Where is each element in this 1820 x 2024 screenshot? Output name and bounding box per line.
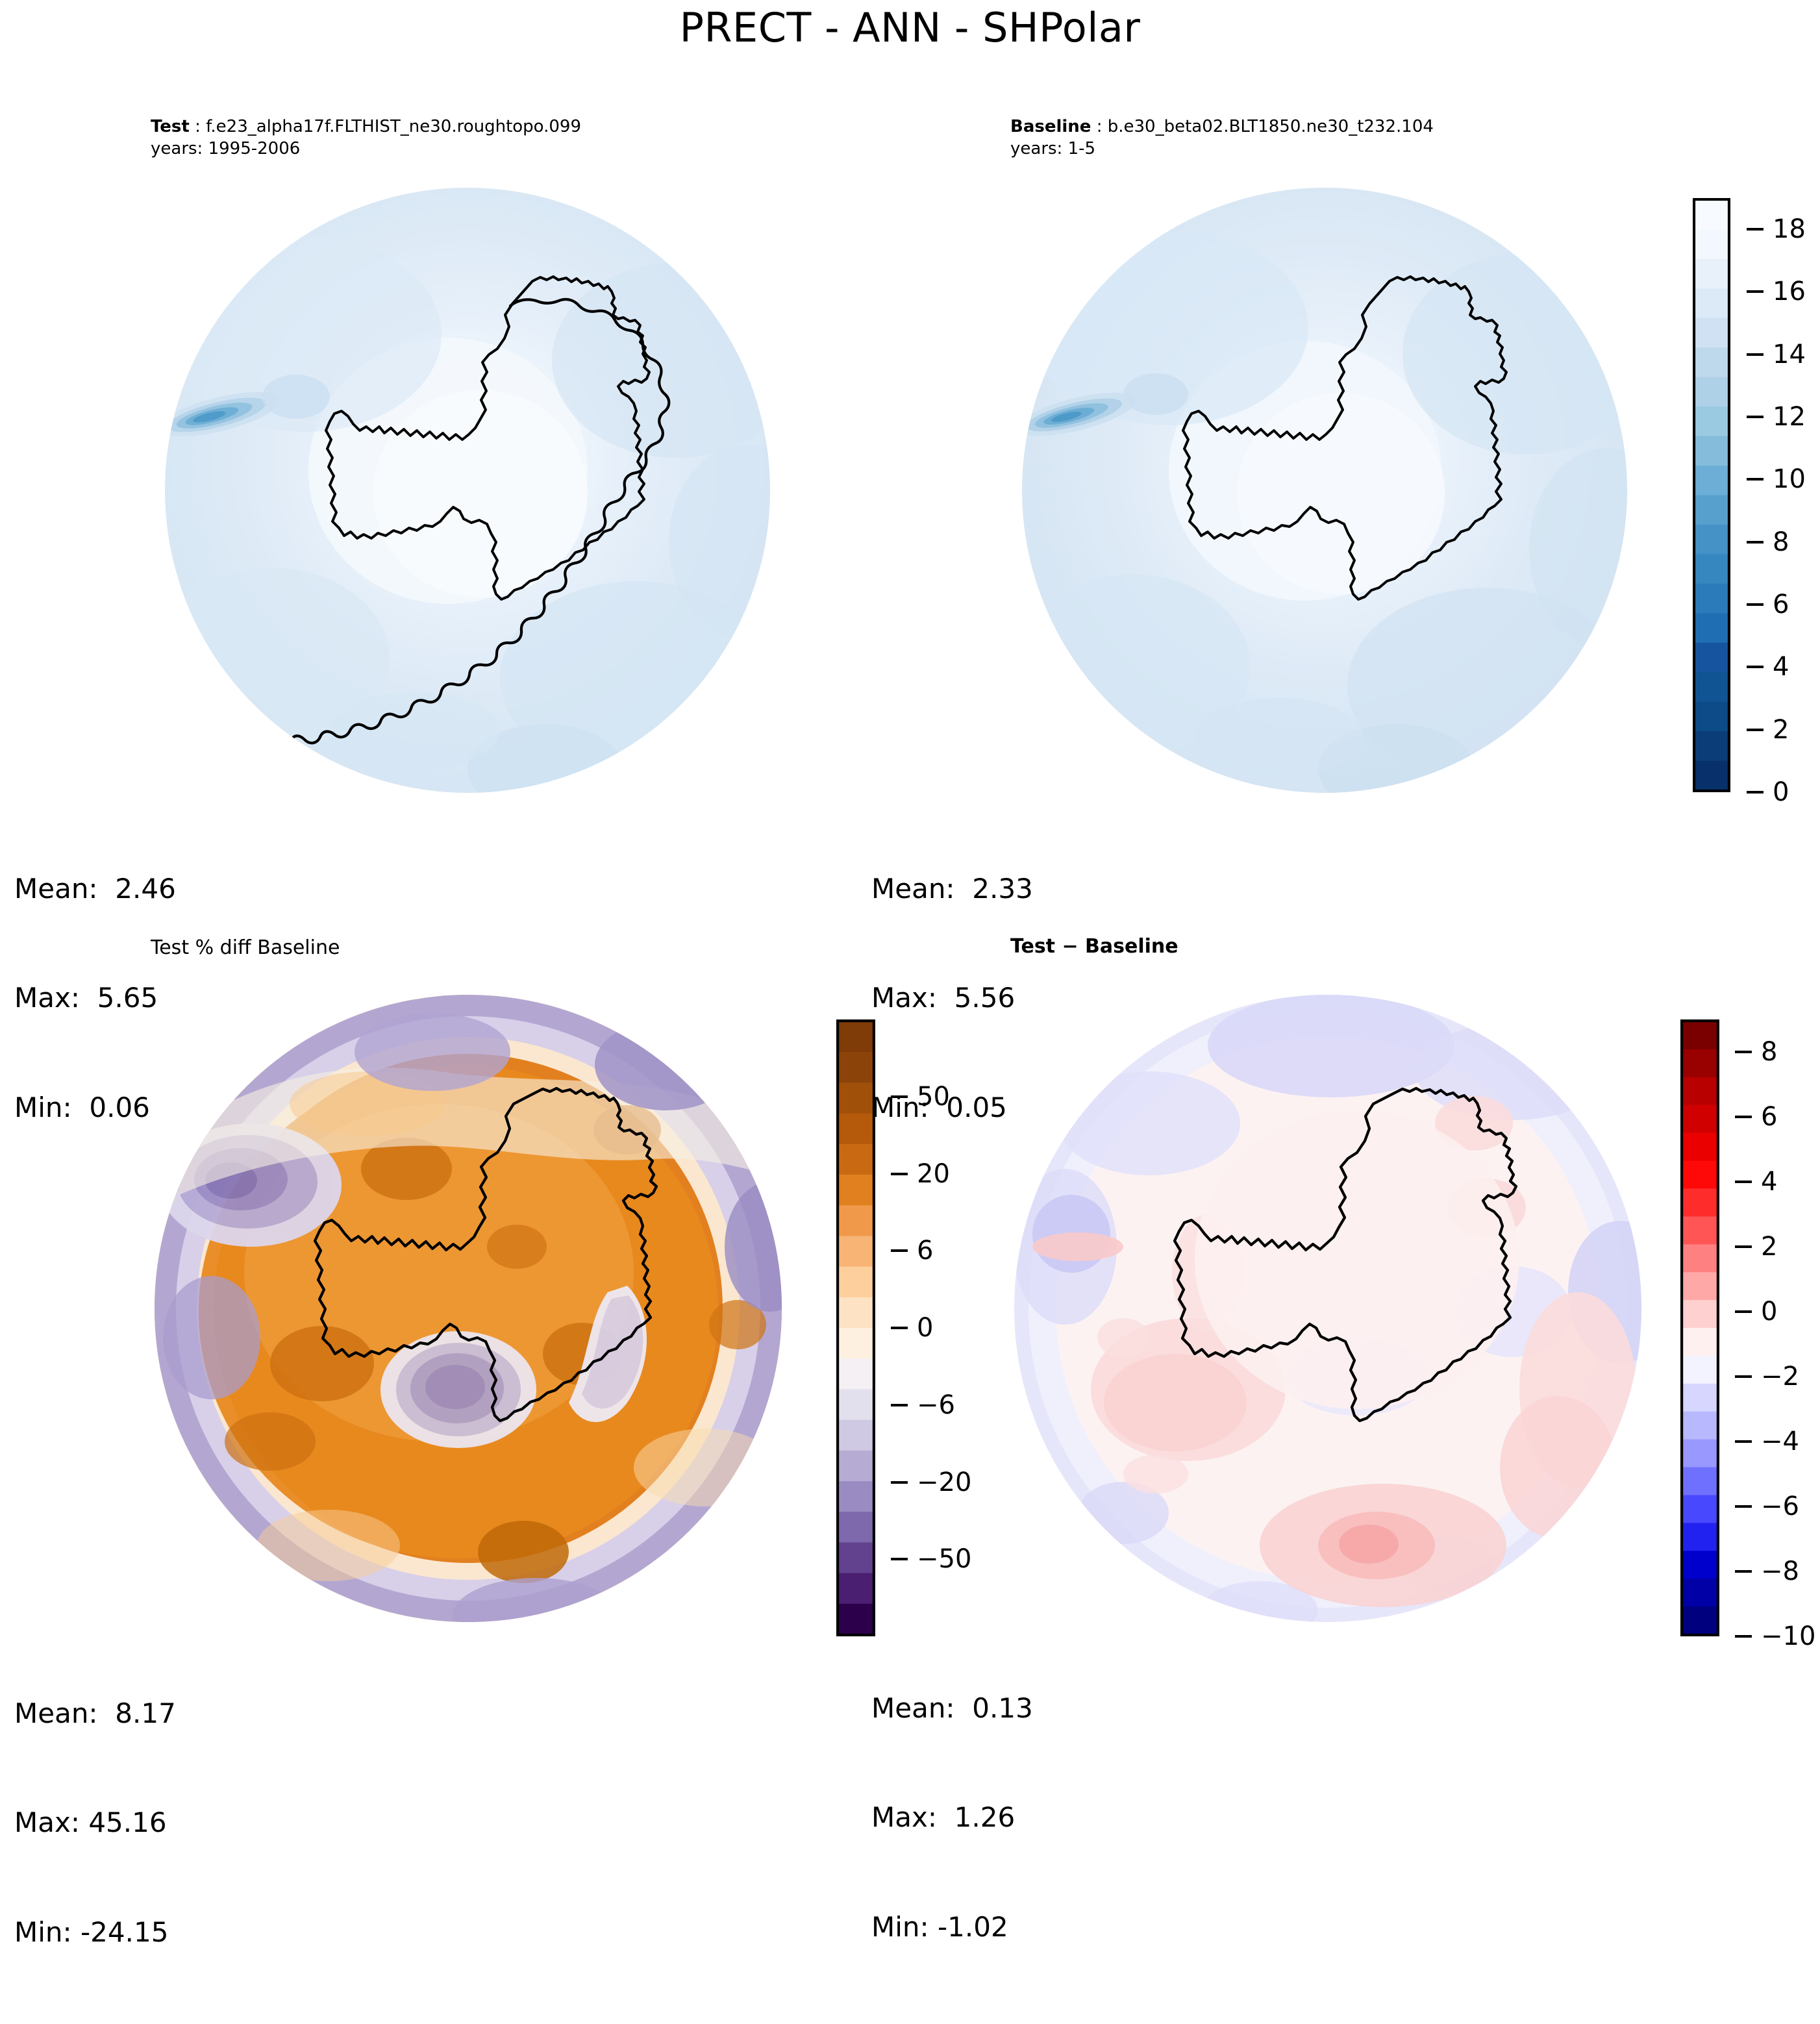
test-header-sep: : bbox=[190, 117, 206, 136]
diff-map bbox=[993, 974, 1662, 1643]
main-colorbar-labels: 024681012141618 bbox=[1747, 198, 1820, 792]
colorbar-tick bbox=[1735, 1181, 1752, 1183]
colorbar-tick-label: 16 bbox=[1773, 277, 1806, 306]
colorbar-tick bbox=[1747, 603, 1764, 606]
colorbar-tick-label: 0 bbox=[1773, 777, 1789, 807]
colorbar-tick bbox=[1747, 666, 1764, 668]
colorbar-tick-label: −20 bbox=[917, 1468, 971, 1497]
diff-colorbar-swatches[interactable] bbox=[1680, 1019, 1719, 1636]
diff-stat-mean: Mean: 0.13 bbox=[871, 1690, 1033, 1727]
baseline-field bbox=[1000, 166, 1649, 808]
colorbar-tick-label: 50 bbox=[917, 1082, 950, 1112]
colorbar-tick-label: 8 bbox=[1761, 1037, 1777, 1067]
colorbar-tick-label: 0 bbox=[1761, 1297, 1777, 1327]
pctdiff-panel-title: Test % diff Baseline bbox=[151, 936, 340, 959]
colorbar-tick-label: 8 bbox=[1773, 527, 1789, 557]
colorbar-tick bbox=[1735, 1635, 1752, 1638]
pctdiff-stat-min: Min: -24.15 bbox=[14, 1914, 176, 1951]
colorbar-tick bbox=[891, 1404, 908, 1406]
baseline-header-years: years: 1-5 bbox=[1010, 138, 1434, 160]
baseline-map-svg bbox=[1000, 166, 1649, 808]
colorbar-tick bbox=[1735, 1310, 1752, 1313]
colorbar-tick bbox=[1747, 791, 1764, 793]
test-field bbox=[143, 166, 792, 808]
colorbar-tick-label: 2 bbox=[1761, 1232, 1777, 1262]
colorbar-tick bbox=[1735, 1116, 1752, 1118]
colorbar-tick bbox=[891, 1558, 908, 1560]
diff-field bbox=[993, 974, 1662, 1643]
figure-title: PRECT - ANN - SHPolar bbox=[0, 4, 1820, 51]
colorbar-tick bbox=[1735, 1505, 1752, 1508]
colorbar-tick bbox=[1747, 541, 1764, 543]
colorbar-tick bbox=[1735, 1440, 1752, 1443]
colorbar-tick-label: −50 bbox=[917, 1544, 971, 1574]
colorbar-tick-label: −2 bbox=[1761, 1362, 1799, 1392]
colorbar-tick-label: 6 bbox=[1773, 590, 1789, 619]
test-header-case: f.e23_alpha17f.FLTHIST_ne30.roughtopo.09… bbox=[206, 117, 581, 136]
pctdiff-colorbar-labels: 502060−6−20−50 bbox=[891, 1019, 988, 1636]
colorbar-tick-label: 20 bbox=[917, 1159, 950, 1189]
colorbar-tick-label: 18 bbox=[1773, 214, 1806, 244]
diff-panel-title: Test − Baseline bbox=[1010, 935, 1178, 958]
colorbar-tick-label: 4 bbox=[1761, 1167, 1777, 1197]
colorbar-tick bbox=[1747, 416, 1764, 418]
colorbar-tick bbox=[1735, 1570, 1752, 1573]
colorbar-tick bbox=[1747, 729, 1764, 731]
colorbar-tick bbox=[891, 1481, 908, 1484]
pctdiff-stat-mean: Mean: 8.17 bbox=[14, 1695, 176, 1732]
pctdiff-stats: Mean: 8.17 Max: 45.16 Min: -24.15 bbox=[14, 1622, 176, 2024]
main-colorbar-swatches[interactable] bbox=[1693, 198, 1730, 792]
colorbar-tick-label: −4 bbox=[1761, 1427, 1799, 1456]
pctdiff-stat-max: Max: 45.16 bbox=[14, 1805, 176, 1841]
colorbar-tick bbox=[1747, 353, 1764, 356]
diff-map-svg bbox=[993, 974, 1662, 1643]
colorbar-tick-label: 12 bbox=[1773, 402, 1806, 432]
test-header-years: years: 1995-2006 bbox=[151, 138, 581, 160]
colorbar-tick bbox=[1735, 1051, 1752, 1053]
colorbar-tick-label: −10 bbox=[1761, 1621, 1815, 1651]
colorbar-tick-label: 10 bbox=[1773, 464, 1806, 494]
colorbar-tick-label: −6 bbox=[1761, 1492, 1799, 1521]
test-panel-header: Test : f.e23_alpha17f.FLTHIST_ne30.rough… bbox=[151, 116, 581, 160]
colorbar-tick-label: 14 bbox=[1773, 340, 1806, 369]
colorbar-tick bbox=[1735, 1245, 1752, 1248]
diff-stat-min: Min: -1.02 bbox=[871, 1909, 1033, 1945]
colorbar-tick bbox=[891, 1249, 908, 1252]
colorbar-tick-label: 6 bbox=[917, 1236, 933, 1266]
baseline-panel-header: Baseline : b.e30_beta02.BLT1850.ne30_t23… bbox=[1010, 116, 1434, 160]
colorbar-tick bbox=[891, 1095, 908, 1098]
diff-colorbar bbox=[1680, 1019, 1719, 1636]
pctdiff-map bbox=[134, 974, 803, 1643]
test-map bbox=[143, 166, 792, 808]
diff-colorbar-labels: 86420−2−4−6−8−10 bbox=[1735, 1019, 1820, 1636]
test-header-label: Test bbox=[151, 117, 190, 136]
baseline-header-label: Baseline bbox=[1010, 117, 1091, 136]
colorbar-tick bbox=[1747, 228, 1764, 231]
baseline-header-case: b.e30_beta02.BLT1850.ne30_t232.104 bbox=[1108, 117, 1434, 136]
pctdiff-colorbar bbox=[836, 1019, 875, 1636]
pctdiff-map-svg bbox=[134, 974, 803, 1643]
colorbar-tick-label: 0 bbox=[917, 1313, 933, 1343]
colorbar-tick-label: −6 bbox=[917, 1390, 955, 1420]
baseline-header-sep: : bbox=[1091, 117, 1107, 136]
pctdiff-colorbar-swatches[interactable] bbox=[836, 1019, 875, 1636]
main-colorbar bbox=[1693, 198, 1730, 792]
colorbar-tick bbox=[891, 1173, 908, 1175]
baseline-stat-mean: Mean: 2.33 bbox=[871, 871, 1033, 907]
colorbar-tick bbox=[1747, 290, 1764, 293]
colorbar-tick bbox=[1747, 478, 1764, 481]
colorbar-tick-label: −8 bbox=[1761, 1556, 1799, 1586]
colorbar-tick bbox=[891, 1327, 908, 1329]
diff-stat-max: Max: 1.26 bbox=[871, 1799, 1033, 1836]
test-map-svg bbox=[143, 166, 792, 808]
baseline-map bbox=[1000, 166, 1649, 808]
colorbar-tick-label: 6 bbox=[1761, 1102, 1777, 1132]
pctdiff-field bbox=[134, 974, 803, 1643]
colorbar-tick bbox=[1735, 1375, 1752, 1378]
colorbar-tick-label: 2 bbox=[1773, 715, 1789, 745]
diff-stats: Mean: 0.13 Max: 1.26 Min: -1.02 bbox=[871, 1617, 1033, 2019]
figure-canvas: PRECT - ANN - SHPolar Test : f.e23_alpha… bbox=[0, 0, 1820, 1732]
test-stat-mean: Mean: 2.46 bbox=[14, 871, 176, 907]
colorbar-tick-label: 4 bbox=[1773, 652, 1789, 682]
